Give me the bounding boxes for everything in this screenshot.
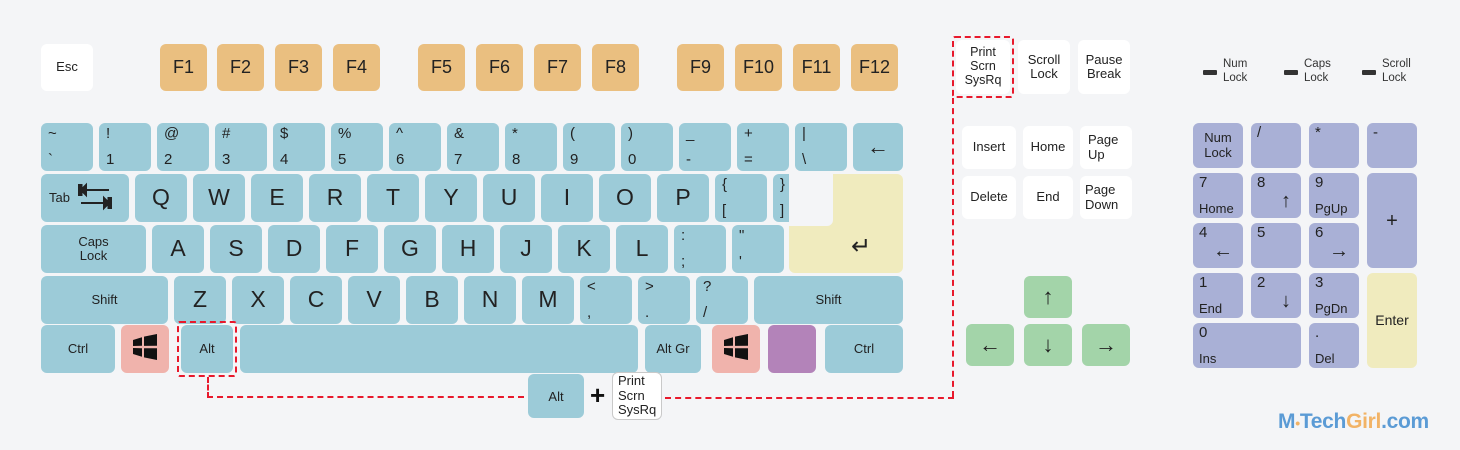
key-0[interactable]: ) 0 <box>621 123 673 171</box>
key-j[interactable]: J <box>500 225 552 273</box>
logo-com: .com <box>1381 410 1429 434</box>
key-tab[interactable]: Tab <box>41 174 129 222</box>
highlight-path-horizontal-bottom <box>665 397 954 399</box>
numpad-word: PgUp <box>1315 202 1359 216</box>
key-legend-lower: , <box>587 305 632 320</box>
key-insert[interactable]: Insert <box>962 126 1016 169</box>
key-x[interactable]: X <box>232 276 284 324</box>
key-numpad-add[interactable]: + <box>1367 173 1417 268</box>
key-arrow-down[interactable]: ↓ <box>1024 324 1072 366</box>
key-caps-lock[interactable]: Caps Lock <box>41 225 146 273</box>
led-line2: Lock <box>1304 72 1328 84</box>
key-8[interactable]: * 8 <box>505 123 557 171</box>
windows-logo-icon <box>721 334 751 363</box>
key-legend-upper: ) <box>628 126 673 141</box>
key-alt-left[interactable]: Alt <box>181 325 233 373</box>
key-numpad-enter[interactable]: Enter <box>1367 273 1417 368</box>
key-w[interactable]: W <box>193 174 245 222</box>
callout-key-print-screen[interactable]: Print Scrn SysRq <box>612 372 662 420</box>
enter-arrow-icon: ↵ <box>819 220 903 273</box>
highlight-path-vertical-right <box>952 98 954 397</box>
key-f4[interactable]: F4 <box>333 44 380 91</box>
key-legend-upper: { <box>722 177 767 192</box>
page-up-line1: Page <box>1088 133 1118 147</box>
key-s[interactable]: S <box>210 225 262 273</box>
key-legend-lower: 3 <box>222 152 267 167</box>
numpad-number: 1 <box>1199 275 1243 292</box>
key-legend-lower: 0 <box>628 152 673 167</box>
key-6[interactable]: ^ 6 <box>389 123 441 171</box>
highlight-path-vertical-left <box>207 377 209 398</box>
key-legend-upper: ? <box>703 279 748 294</box>
key-windows-left[interactable] <box>121 325 169 373</box>
key-d[interactable]: D <box>268 225 320 273</box>
key-legend-lower: 9 <box>570 152 615 167</box>
key-bracket-left[interactable]: { [ <box>715 174 767 222</box>
key-tab-label: Tab <box>49 191 70 205</box>
key-legend-lower: 8 <box>512 152 557 167</box>
numpad-number: 3 <box>1315 275 1359 292</box>
key-f10[interactable]: F10 <box>735 44 782 91</box>
key-numpad-6[interactable]: 6 → <box>1309 223 1359 268</box>
numpad-number: 2 <box>1257 275 1301 292</box>
led-lamp-icon <box>1362 70 1376 75</box>
numpad-word: End <box>1199 302 1243 316</box>
key-f2[interactable]: F2 <box>217 44 264 91</box>
key-g[interactable]: G <box>384 225 436 273</box>
key-i[interactable]: I <box>541 174 593 222</box>
led-line1: Caps <box>1304 58 1331 70</box>
numpad-symbol: * <box>1315 125 1359 142</box>
led-line2: Lock <box>1223 72 1247 84</box>
numpad-word: Ins <box>1199 352 1301 366</box>
led-caps-lock-label: Caps Lock <box>1304 58 1331 86</box>
key-space[interactable] <box>240 325 638 373</box>
key-numpad-5[interactable]: 5 <box>1251 223 1301 268</box>
key-o[interactable]: O <box>599 174 651 222</box>
key-arrow-left[interactable]: ← <box>966 324 1014 366</box>
key-numpad-subtract[interactable]: - <box>1367 123 1417 168</box>
key-legend-lower: 6 <box>396 152 441 167</box>
key-q[interactable]: Q <box>135 174 187 222</box>
key-home[interactable]: Home <box>1023 126 1073 169</box>
key-m[interactable]: M <box>522 276 574 324</box>
key-alt-gr[interactable]: Alt Gr <box>645 325 701 373</box>
key-b[interactable]: B <box>406 276 458 324</box>
key-f5[interactable]: F5 <box>418 44 465 91</box>
key-legend-upper: > <box>645 279 690 294</box>
led-scroll-lock: Scroll Lock <box>1362 58 1411 86</box>
key-7[interactable]: & 7 <box>447 123 499 171</box>
key-u[interactable]: U <box>483 174 535 222</box>
key-numpad-3[interactable]: 3 PgDn <box>1309 273 1359 318</box>
key-y[interactable]: Y <box>425 174 477 222</box>
key-9[interactable]: ( 9 <box>563 123 615 171</box>
keyboard-diagram: Esc F1 F2 F3 F4 F5 F6 F7 F8 F9 F10 F11 F… <box>0 0 1460 450</box>
key-legend-upper: # <box>222 126 267 141</box>
page-down-line2: Down <box>1085 198 1118 212</box>
key-legend-upper: & <box>454 126 499 141</box>
callout-print-screen-line2: Scrn <box>618 389 645 404</box>
key-comma[interactable]: < , <box>580 276 632 324</box>
key-delete[interactable]: Delete <box>962 176 1016 219</box>
logo-tech: Tech <box>1300 410 1346 434</box>
key-quote[interactable]: " ' <box>732 225 784 273</box>
key-minus[interactable]: _ - <box>679 123 731 171</box>
callout-print-screen-line3: SysRq <box>618 403 656 418</box>
site-logo[interactable]: M•TechGirl.com <box>1278 410 1429 434</box>
key-menu[interactable] <box>768 325 816 373</box>
callout-print-screen-line1: Print <box>618 374 645 389</box>
key-f6[interactable]: F6 <box>476 44 523 91</box>
caps-lock-line1: Caps <box>78 235 108 249</box>
key-page-up[interactable]: Page Up <box>1080 126 1132 169</box>
key-3[interactable]: # 3 <box>215 123 267 171</box>
key-legend-upper: % <box>338 126 383 141</box>
key-z[interactable]: Z <box>174 276 226 324</box>
key-legend-upper: ! <box>106 126 151 141</box>
key-shift-right[interactable]: Shift <box>754 276 903 324</box>
tab-arrows-icon <box>78 181 112 214</box>
key-enter[interactable]: ↵ <box>789 174 903 273</box>
key-legend-lower: \ <box>802 152 847 167</box>
key-backspace[interactable]: ← <box>853 123 903 171</box>
key-legend-upper: : <box>681 228 726 243</box>
print-screen-line1: Print <box>970 46 996 60</box>
key-legend-lower: 1 <box>106 152 151 167</box>
key-legend-upper: $ <box>280 126 325 141</box>
key-legend-lower: 4 <box>280 152 325 167</box>
key-end[interactable]: End <box>1023 176 1073 219</box>
numpad-number: 5 <box>1257 225 1301 242</box>
key-legend-lower: 7 <box>454 152 499 167</box>
key-slash[interactable]: ? / <box>696 276 748 324</box>
key-legend-upper: ( <box>570 126 615 141</box>
key-numpad-1[interactable]: 1 End <box>1193 273 1243 318</box>
numpad-number: 8 <box>1257 175 1301 192</box>
key-legend-lower: = <box>744 152 789 167</box>
scroll-lock-line2: Lock <box>1030 67 1057 81</box>
key-legend-lower: . <box>645 305 690 320</box>
key-f8[interactable]: F8 <box>592 44 639 91</box>
key-v[interactable]: V <box>348 276 400 324</box>
key-numpad-decimal[interactable]: . Del <box>1309 323 1359 368</box>
key-5[interactable]: % 5 <box>331 123 383 171</box>
numpad-symbol: - <box>1373 125 1417 142</box>
key-legend-upper: @ <box>164 126 209 141</box>
pause-break-line2: Break <box>1087 67 1121 81</box>
key-f7[interactable]: F7 <box>534 44 581 91</box>
key-equals[interactable]: + = <box>737 123 789 171</box>
key-arrow-up[interactable]: ↑ <box>1024 276 1072 318</box>
numpad-word: Home <box>1199 202 1243 216</box>
key-legend-upper: ^ <box>396 126 441 141</box>
key-n[interactable]: N <box>464 276 516 324</box>
led-line2: Lock <box>1382 72 1406 84</box>
key-pause-break[interactable]: Pause Break <box>1078 40 1130 94</box>
key-legend-upper: | <box>802 126 847 141</box>
key-a[interactable]: A <box>152 225 204 273</box>
highlight-path-horizontal-left <box>207 396 524 398</box>
key-arrow-right[interactable]: → <box>1082 324 1130 366</box>
key-numpad-divide[interactable]: / <box>1251 123 1301 168</box>
key-p[interactable]: P <box>657 174 709 222</box>
scroll-lock-line1: Scroll <box>1028 53 1061 67</box>
page-up-line2: Up <box>1088 148 1105 162</box>
led-num-lock-label: Num Lock <box>1223 58 1247 86</box>
key-ctrl-right[interactable]: Ctrl <box>825 325 903 373</box>
key-ctrl-left[interactable]: Ctrl <box>41 325 115 373</box>
key-esc[interactable]: Esc <box>41 44 93 91</box>
key-print-screen[interactable]: Print Scrn SysRq <box>956 40 1010 94</box>
key-period[interactable]: > . <box>638 276 690 324</box>
key-r[interactable]: R <box>309 174 361 222</box>
key-legend-lower: ` <box>48 152 93 167</box>
key-backslash[interactable]: | \ <box>795 123 847 171</box>
key-legend-upper: " <box>739 228 784 243</box>
key-legend-lower: [ <box>722 203 767 218</box>
key-f11[interactable]: F11 <box>793 44 840 91</box>
numpad-arrow-up-icon: ↑ <box>1281 190 1291 212</box>
key-f[interactable]: F <box>326 225 378 273</box>
key-legend-upper: ~ <box>48 126 93 141</box>
key-legend-lower: ; <box>681 254 726 269</box>
key-numpad-0[interactable]: 0 Ins <box>1193 323 1301 368</box>
numpad-word: PgDn <box>1315 302 1359 316</box>
key-numpad-8[interactable]: 8 ↑ <box>1251 173 1301 218</box>
key-legend-upper: + <box>744 126 789 141</box>
windows-logo-icon <box>130 334 160 363</box>
numpad-arrow-down-icon: ↓ <box>1281 290 1291 312</box>
key-legend-upper: * <box>512 126 557 141</box>
print-screen-line3: SysRq <box>965 74 1002 88</box>
key-f1[interactable]: F1 <box>160 44 207 91</box>
led-line1: Scroll <box>1382 58 1411 70</box>
key-numpad-4[interactable]: 4 ← <box>1193 223 1243 268</box>
numpad-number: 0 <box>1199 325 1301 342</box>
key-numpad-9[interactable]: 9 PgUp <box>1309 173 1359 218</box>
shortcut-callout: Alt + Print Scrn SysRq <box>520 372 680 422</box>
led-caps-lock: Caps Lock <box>1284 58 1331 86</box>
logo-girl: Girl <box>1346 410 1381 434</box>
key-legend-upper: _ <box>686 126 731 141</box>
key-1[interactable]: ! 1 <box>99 123 151 171</box>
key-t[interactable]: T <box>367 174 419 222</box>
key-semicolon[interactable]: : ; <box>674 225 726 273</box>
key-page-down[interactable]: Page Down <box>1080 176 1132 219</box>
key-legend-upper: < <box>587 279 632 294</box>
key-numpad-2[interactable]: 2 ↓ <box>1251 273 1301 318</box>
led-lamp-icon <box>1284 70 1298 75</box>
key-legend-lower: 5 <box>338 152 383 167</box>
numpad-arrow-right-icon: → <box>1329 240 1349 262</box>
numpad-word: Del <box>1315 352 1359 366</box>
led-line1: Num <box>1223 58 1247 70</box>
key-2[interactable]: @ 2 <box>157 123 209 171</box>
logo-m: M <box>1278 410 1295 434</box>
key-shift-left[interactable]: Shift <box>41 276 168 324</box>
numpad-number: 7 <box>1199 175 1243 192</box>
key-num-lock[interactable]: Num Lock <box>1193 123 1243 168</box>
numpad-number: 9 <box>1315 175 1359 192</box>
led-lamp-icon <box>1203 70 1217 75</box>
key-k[interactable]: K <box>558 225 610 273</box>
callout-plus-icon: + <box>590 380 605 411</box>
key-legend-lower: / <box>703 305 748 320</box>
key-l[interactable]: L <box>616 225 668 273</box>
numpad-symbol: / <box>1257 125 1301 142</box>
led-num-lock: Num Lock <box>1203 58 1247 86</box>
key-f9[interactable]: F9 <box>677 44 724 91</box>
key-windows-right[interactable] <box>712 325 760 373</box>
key-legend-lower: - <box>686 152 731 167</box>
key-f12[interactable]: F12 <box>851 44 898 91</box>
led-scroll-lock-label: Scroll Lock <box>1382 58 1411 86</box>
caps-lock-line2: Lock <box>80 249 107 263</box>
key-legend-lower: 2 <box>164 152 209 167</box>
callout-key-alt[interactable]: Alt <box>528 374 584 418</box>
key-numpad-multiply[interactable]: * <box>1309 123 1359 168</box>
key-h[interactable]: H <box>442 225 494 273</box>
print-screen-line2: Scrn <box>970 60 996 74</box>
num-lock-line2: Lock <box>1204 146 1231 160</box>
pause-break-line1: Pause <box>1086 53 1123 67</box>
key-scroll-lock[interactable]: Scroll Lock <box>1018 40 1070 94</box>
key-c[interactable]: C <box>290 276 342 324</box>
key-e[interactable]: E <box>251 174 303 222</box>
numpad-number: . <box>1315 325 1359 342</box>
key-numpad-7[interactable]: 7 Home <box>1193 173 1243 218</box>
key-backtick[interactable]: ~ ` <box>41 123 93 171</box>
page-down-line1: Page <box>1085 183 1115 197</box>
key-f3[interactable]: F3 <box>275 44 322 91</box>
key-4[interactable]: $ 4 <box>273 123 325 171</box>
key-legend-lower: ' <box>739 254 784 269</box>
num-lock-line1: Num <box>1204 131 1231 145</box>
numpad-arrow-left-icon: ← <box>1213 240 1233 262</box>
